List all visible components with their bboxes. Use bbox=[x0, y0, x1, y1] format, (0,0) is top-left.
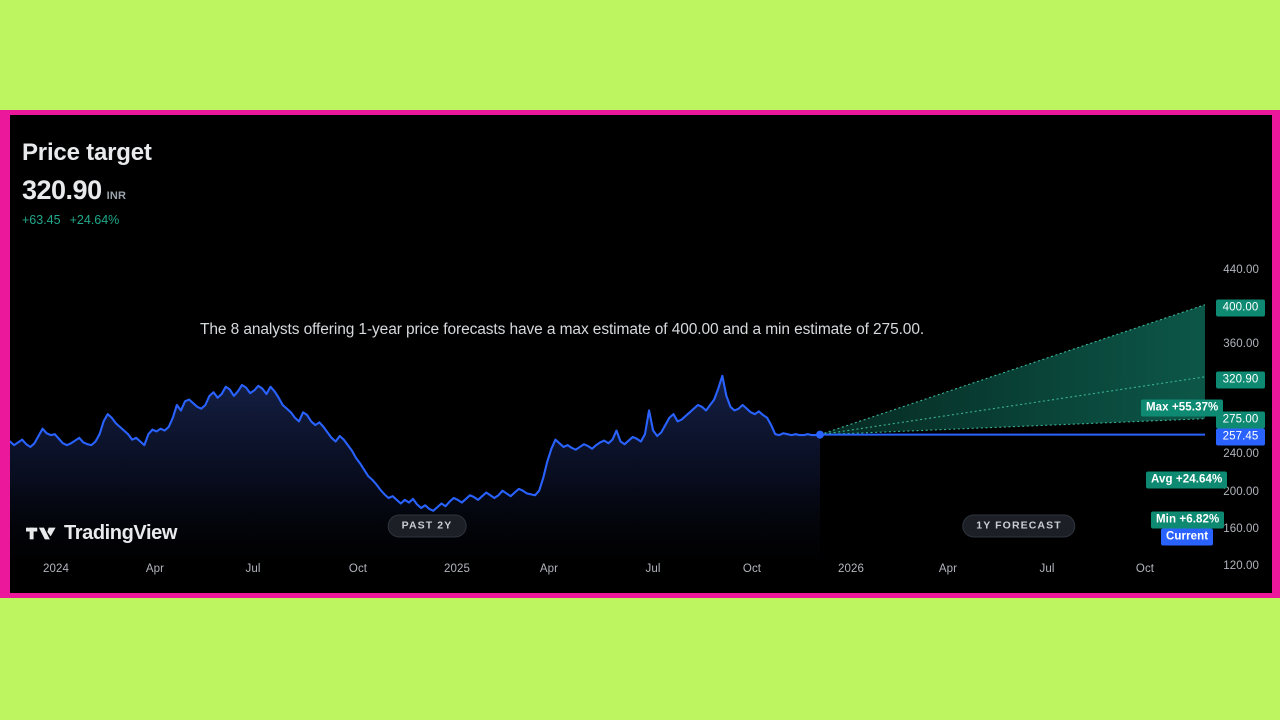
tradingview-logo[interactable]: TradingView bbox=[26, 522, 177, 545]
current-price-marker bbox=[816, 431, 824, 439]
change-row: +63.45 +24.64% bbox=[22, 213, 152, 227]
price-chart[interactable] bbox=[10, 250, 1205, 560]
x-tick: Oct bbox=[743, 563, 761, 575]
y-tick: 240.00 bbox=[1223, 448, 1259, 460]
past-2y-pill[interactable]: PAST 2Y bbox=[388, 515, 467, 538]
max-price-chip[interactable]: 400.00 bbox=[1216, 300, 1265, 317]
tradingview-wordmark: TradingView bbox=[64, 522, 177, 545]
x-tick: 2026 bbox=[838, 563, 864, 575]
panel-header: Price target 320.90 INR +63.45 +24.64% bbox=[22, 141, 152, 227]
time-axis[interactable]: 2024 Apr Jul Oct 2025 Apr Jul Oct 2026 A… bbox=[10, 563, 1272, 583]
min-target-tag[interactable]: Min +6.82% bbox=[1151, 512, 1224, 529]
change-absolute: +63.45 bbox=[22, 213, 61, 227]
current-price-tag[interactable]: Current bbox=[1161, 529, 1213, 546]
x-tick: Apr bbox=[939, 563, 957, 575]
x-tick: Apr bbox=[146, 563, 164, 575]
min-price-chip[interactable]: 275.00 bbox=[1216, 412, 1265, 429]
x-tick: Jul bbox=[645, 563, 660, 575]
avg-price-chip[interactable]: 320.90 bbox=[1216, 372, 1265, 389]
x-tick: 2024 bbox=[43, 563, 69, 575]
x-tick: Jul bbox=[245, 563, 260, 575]
y-tick: 440.00 bbox=[1223, 264, 1259, 276]
x-tick: Oct bbox=[349, 563, 367, 575]
x-tick: Oct bbox=[1136, 563, 1154, 575]
page-title: Price target bbox=[22, 141, 152, 165]
max-target-tag[interactable]: Max +55.37% bbox=[1141, 400, 1223, 417]
y-tick: 360.00 bbox=[1223, 338, 1259, 350]
tradingview-logo-icon bbox=[26, 524, 56, 543]
price-target-panel: Price target 320.90 INR +63.45 +24.64% T… bbox=[0, 110, 1280, 598]
x-tick: Jul bbox=[1039, 563, 1054, 575]
panel-inner: Price target 320.90 INR +63.45 +24.64% T… bbox=[10, 115, 1272, 593]
x-tick: 2025 bbox=[444, 563, 470, 575]
y-tick: 200.00 bbox=[1223, 486, 1259, 498]
change-percent: +24.64% bbox=[70, 213, 120, 227]
x-tick: Apr bbox=[540, 563, 558, 575]
currency-label: INR bbox=[107, 190, 127, 202]
y-tick: 160.00 bbox=[1223, 523, 1259, 535]
avg-target-tag[interactable]: Avg +24.64% bbox=[1146, 472, 1227, 489]
price-target-value: 320.90 bbox=[22, 177, 102, 204]
price-row: 320.90 INR bbox=[22, 177, 152, 204]
forecast-1y-pill[interactable]: 1Y FORECAST bbox=[962, 515, 1075, 538]
screen: Price target 320.90 INR +63.45 +24.64% T… bbox=[0, 0, 1280, 720]
chart-canvas bbox=[10, 250, 1205, 560]
current-price-chip[interactable]: 257.45 bbox=[1216, 429, 1265, 446]
